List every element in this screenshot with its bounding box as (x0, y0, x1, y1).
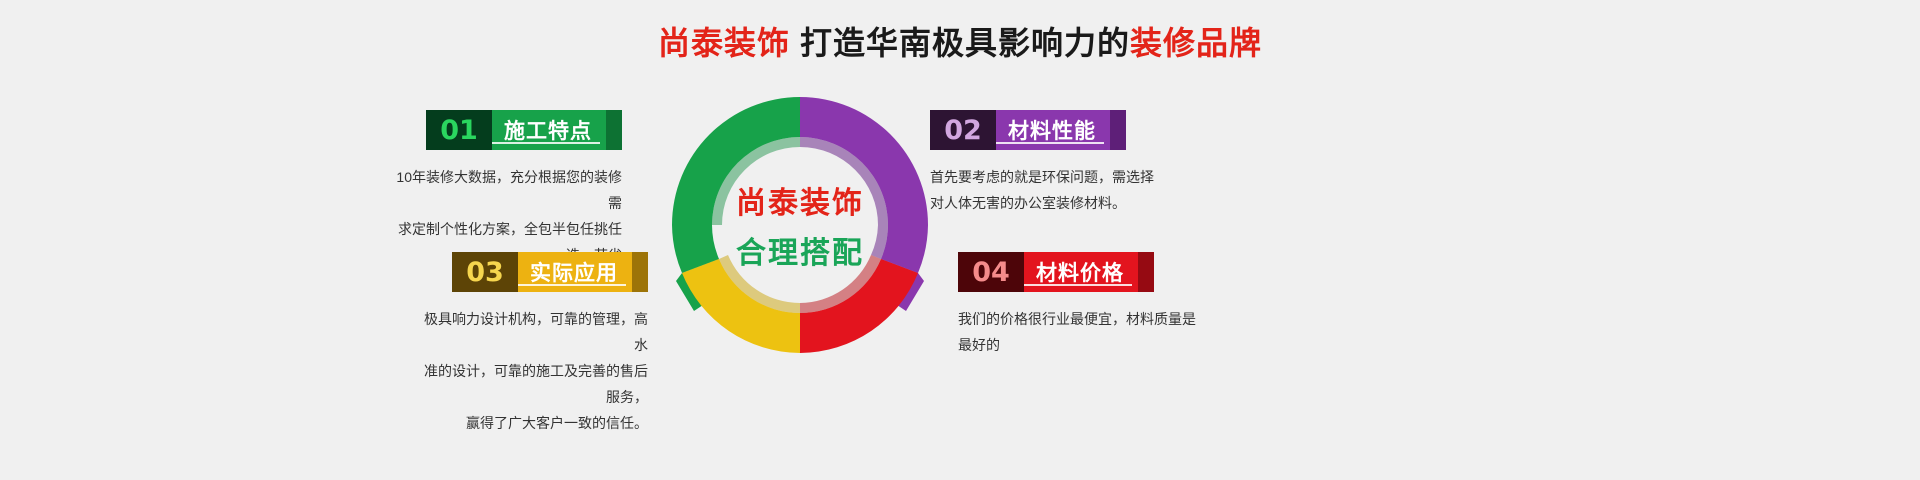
feature-badge-01[interactable]: 01 施工特点 (426, 110, 622, 150)
feature-block-03: 03 实际应用 极具响力设计机构，可靠的管理，高水 准的设计，可靠的施工及完善的… (420, 252, 648, 436)
feature-badge-underline-03 (518, 284, 626, 286)
feature-badge-03[interactable]: 03 实际应用 (452, 252, 648, 292)
feature-badge-underline-04 (1024, 284, 1132, 286)
wheel-slogan-text: 合理搭配 (736, 228, 864, 272)
feature-badge-tail-03 (632, 252, 648, 292)
wheel-brand-text: 尚泰装饰 (736, 178, 864, 222)
feature-number-02: 02 (930, 110, 996, 150)
wheel-center-text: 尚泰装饰 合理搭配 (660, 85, 940, 365)
page-title: 尚泰装饰 打造华南极具影响力的装修品牌 (0, 18, 1920, 64)
feature-label-04: 材料价格 (1024, 252, 1138, 292)
feature-label-03: 实际应用 (518, 252, 632, 292)
feature-label-02: 材料性能 (996, 110, 1110, 150)
feature-description-03: 极具响力设计机构，可靠的管理，高水 准的设计，可靠的施工及完善的售后服务， 赢得… (420, 306, 648, 436)
feature-badge-tail-02 (1110, 110, 1126, 150)
feature-badge-tail-01 (606, 110, 622, 150)
feature-badge-02[interactable]: 02 材料性能 (930, 110, 1126, 150)
feature-label-01: 施工特点 (492, 110, 606, 150)
feature-block-02: 02 材料性能 首先要考虑的就是环保问题，需选择 对人体无害的办公室装修材料。 (930, 110, 1180, 216)
feature-badge-underline-02 (996, 142, 1104, 144)
page-title-brand: 尚泰装饰 (658, 25, 790, 61)
feature-number-03: 03 (452, 252, 518, 292)
feature-number-04: 04 (958, 252, 1024, 292)
feature-badge-04[interactable]: 04 材料价格 (958, 252, 1154, 292)
feature-badge-underline-01 (492, 142, 600, 144)
page-title-keyword: 装修品牌 (1130, 25, 1262, 61)
feature-block-04: 04 材料价格 我们的价格很行业最便宜，材料质量是 最好的 (958, 252, 1208, 358)
feature-description-02: 首先要考虑的就是环保问题，需选择 对人体无害的办公室装修材料。 (930, 164, 1180, 216)
feature-description-04: 我们的价格很行业最便宜，材料质量是 最好的 (958, 306, 1208, 358)
feature-number-01: 01 (426, 110, 492, 150)
center-wheel: 尚泰装饰 合理搭配 (660, 85, 940, 365)
feature-badge-tail-04 (1138, 252, 1154, 292)
page-title-middle: 打造华南极具影响力的 (790, 25, 1130, 61)
